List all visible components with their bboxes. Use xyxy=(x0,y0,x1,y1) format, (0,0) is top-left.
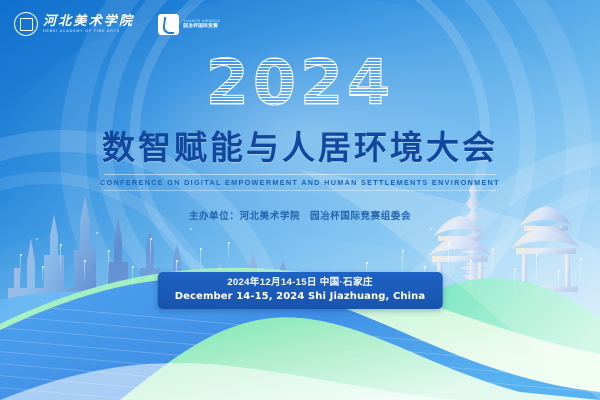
yuanye-name-cn: 园冶杯国际竞赛 xyxy=(183,23,220,29)
year-2024: 2024 xyxy=(0,52,600,114)
conference-poster: 河北美术学院 HEBEI ACADEMY OF FINE ARTS YUANYE… xyxy=(0,0,600,400)
academy-seal-icon xyxy=(14,12,38,36)
organizer-label: 主办单位： xyxy=(189,211,240,222)
date-location-cn: 2024年12月14-15日 中国·石家庄 xyxy=(175,277,426,290)
organizer-name-1: 河北美术学院 xyxy=(239,211,300,222)
yuanye-mark-icon xyxy=(158,14,179,35)
date-location-en: December 14-15, 2024 Shi Jiazhuang, Chin… xyxy=(175,290,426,304)
page-subtitle: CONFERENCE ON DIGITAL EMPOWERMENT AND HU… xyxy=(0,178,600,187)
organizer-name-2: 园冶杯国际竞赛组委会 xyxy=(310,211,411,222)
organizer-line: 主办单位：河北美术学院园冶杯国际竞赛组委会 xyxy=(0,208,600,222)
header-logos: 河北美术学院 HEBEI ACADEMY OF FINE ARTS YUANYE… xyxy=(0,0,600,48)
logo-hebei-academy: 河北美术学院 HEBEI ACADEMY OF FINE ARTS xyxy=(14,12,134,36)
academy-name-en: HEBEI ACADEMY OF FINE ARTS xyxy=(43,30,134,34)
page-title: 数智赋能与人居环境大会 xyxy=(0,129,600,168)
title-divider-top xyxy=(104,174,496,175)
title-divider-bottom xyxy=(104,190,496,191)
date-location-banner: 2024年12月14-15日 中国·石家庄 December 14-15, 20… xyxy=(158,272,443,309)
academy-name-cn: 河北美术学院 xyxy=(43,14,134,27)
logo-yuanye-awards: YUANYE AWARDS 园冶杯国际竞赛 xyxy=(158,14,220,35)
